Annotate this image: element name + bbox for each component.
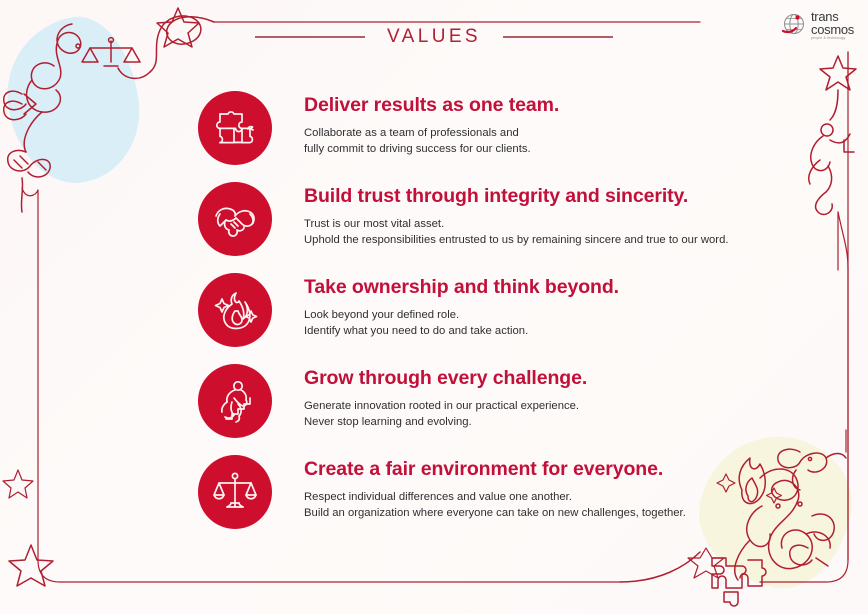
title-rule-right [503, 36, 613, 37]
value-description-line: fully commit to driving success for our … [304, 142, 559, 158]
value-description-line: Never stop learning and evolving. [304, 415, 587, 431]
flame-icon [198, 273, 272, 347]
logo-line-2: cosmos [811, 23, 854, 36]
value-description-line: Respect individual differences and value… [304, 490, 686, 506]
balance-scales-icon [198, 455, 272, 529]
puzzle-doodle [712, 558, 766, 606]
value-description-line: Collaborate as a team of professionals a… [304, 126, 559, 142]
value-row: Take ownership and think beyond. Look be… [0, 268, 868, 359]
value-description-line: Uphold the responsibilities entrusted to… [304, 233, 729, 249]
logo-tagline: people & technology [811, 37, 854, 40]
slide-canvas: VALUES trans cosmos people & technology [0, 0, 868, 614]
value-heading: Deliver results as one team. [304, 94, 559, 117]
value-heading: Grow through every challenge. [304, 367, 587, 390]
logo-wordmark: trans cosmos people & technology [811, 10, 854, 40]
value-description-line: Build an organization where everyone can… [304, 506, 686, 522]
value-heading: Build trust through integrity and sincer… [304, 185, 729, 208]
value-description-line: Identify what you need to do and take ac… [304, 324, 619, 340]
value-row: Build trust through integrity and sincer… [0, 177, 868, 268]
value-description-line: Trust is our most vital asset. [304, 217, 729, 233]
value-text-block: Deliver results as one team. Collaborate… [304, 86, 559, 157]
globe-icon [781, 11, 807, 37]
page-title: VALUES [387, 26, 481, 48]
value-text-block: Create a fair environment for everyone. … [304, 450, 686, 521]
value-row: Deliver results as one team. Collaborate… [0, 86, 868, 177]
header-bar: VALUES [0, 22, 868, 52]
value-heading: Take ownership and think beyond. [304, 276, 619, 299]
value-text-block: Take ownership and think beyond. Look be… [304, 268, 619, 339]
values-list: Deliver results as one team. Collaborate… [0, 86, 868, 541]
value-text-block: Grow through every challenge. Generate i… [304, 359, 587, 430]
value-text-block: Build trust through integrity and sincer… [304, 177, 729, 248]
value-description-line: Look beyond your defined role. [304, 308, 619, 324]
value-row: Grow through every challenge. Generate i… [0, 359, 868, 450]
title-rule-left [255, 36, 365, 37]
value-heading: Create a fair environment for everyone. [304, 458, 686, 481]
value-row: Create a fair environment for everyone. … [0, 450, 868, 541]
value-description-line: Generate innovation rooted in our practi… [304, 399, 587, 415]
climbing-person-icon [198, 364, 272, 438]
handshake-icon [198, 182, 272, 256]
transcosmos-logo: trans cosmos people & technology [781, 9, 854, 39]
puzzle-pieces-icon [198, 91, 272, 165]
